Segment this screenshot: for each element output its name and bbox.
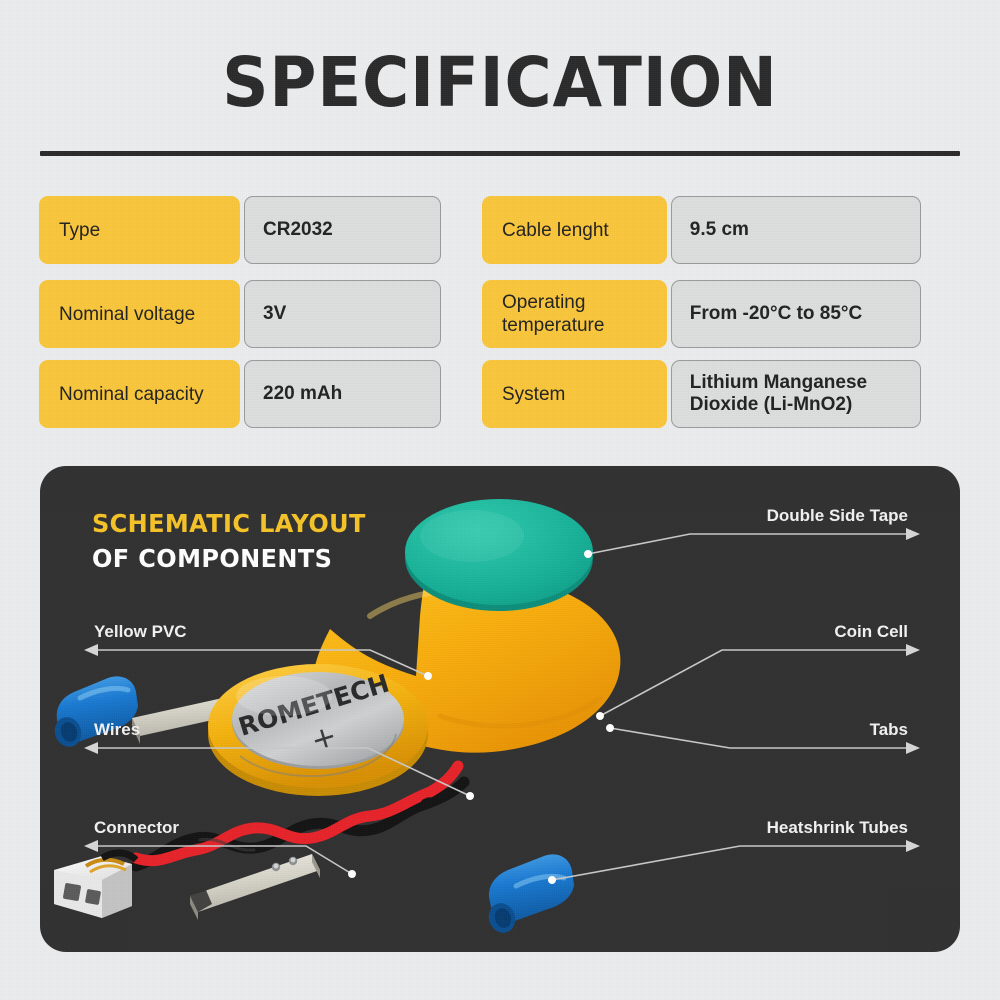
callout-coin-cell: Coin Cell <box>650 606 910 650</box>
callout-label: Heatshrink Tubes <box>767 818 908 838</box>
spec-value: CR2032 <box>244 196 441 264</box>
spec-value: 3V <box>244 280 441 348</box>
schematic-panel: ROMETECH + <box>40 466 960 952</box>
spec-row: Type CR2032 <box>39 196 480 264</box>
callout-label: Tabs <box>870 720 908 740</box>
schematic-heading-line1: SCHEMATIC LAYOUT <box>92 509 366 539</box>
spec-value: From -20°C to 85°C <box>671 280 921 348</box>
callout-heatshrink-tubes: Heatshrink Tubes <box>650 802 910 846</box>
callout-label: Connector <box>94 818 179 838</box>
spec-column-right: Cable lenght 9.5 cm Operating temperatur… <box>480 196 921 432</box>
schematic-heading: SCHEMATIC LAYOUT OF COMPONENTS <box>92 509 377 574</box>
specification-table: Type CR2032 Nominal voltage 3V Nominal c… <box>39 196 961 432</box>
spec-row: Operating temperature From -20°C to 85°C <box>482 280 921 348</box>
spec-label: System <box>482 360 667 428</box>
callout-connector: Connector <box>92 802 352 846</box>
spec-label: Operating temperature <box>482 280 667 348</box>
infographic-page: SPECIFICATION Type CR2032 Nominal voltag… <box>0 0 1000 1000</box>
spec-row: System Lithium Manganese Dioxide (Li-MnO… <box>482 360 921 428</box>
callout-label: Yellow PVC <box>94 622 187 642</box>
page-title: SPECIFICATION <box>35 46 965 120</box>
title-divider <box>40 151 960 156</box>
callout-tabs: Tabs <box>650 704 910 748</box>
callout-yellow-pvc: Yellow PVC <box>92 606 352 650</box>
spec-value: 220 mAh <box>244 360 441 428</box>
spec-row: Nominal capacity 220 mAh <box>39 360 480 428</box>
spec-label: Nominal voltage <box>39 280 240 348</box>
spec-value: 9.5 cm <box>671 196 921 264</box>
callout-label: Double Side Tape <box>767 506 908 526</box>
spec-row: Nominal voltage 3V <box>39 280 480 348</box>
spec-label: Type <box>39 196 240 264</box>
spec-column-left: Type CR2032 Nominal voltage 3V Nominal c… <box>39 196 480 432</box>
spec-row: Cable lenght 9.5 cm <box>482 196 921 264</box>
spec-label: Cable lenght <box>482 196 667 264</box>
spec-value: Lithium Manganese Dioxide (Li-MnO2) <box>671 360 921 428</box>
callout-double-side-tape: Double Side Tape <box>650 490 910 534</box>
callout-wires: Wires <box>92 704 352 748</box>
callout-label: Coin Cell <box>834 622 908 642</box>
spec-label: Nominal capacity <box>39 360 240 428</box>
schematic-heading-line2: OF COMPONENTS <box>92 544 366 574</box>
callout-label: Wires <box>94 720 140 740</box>
